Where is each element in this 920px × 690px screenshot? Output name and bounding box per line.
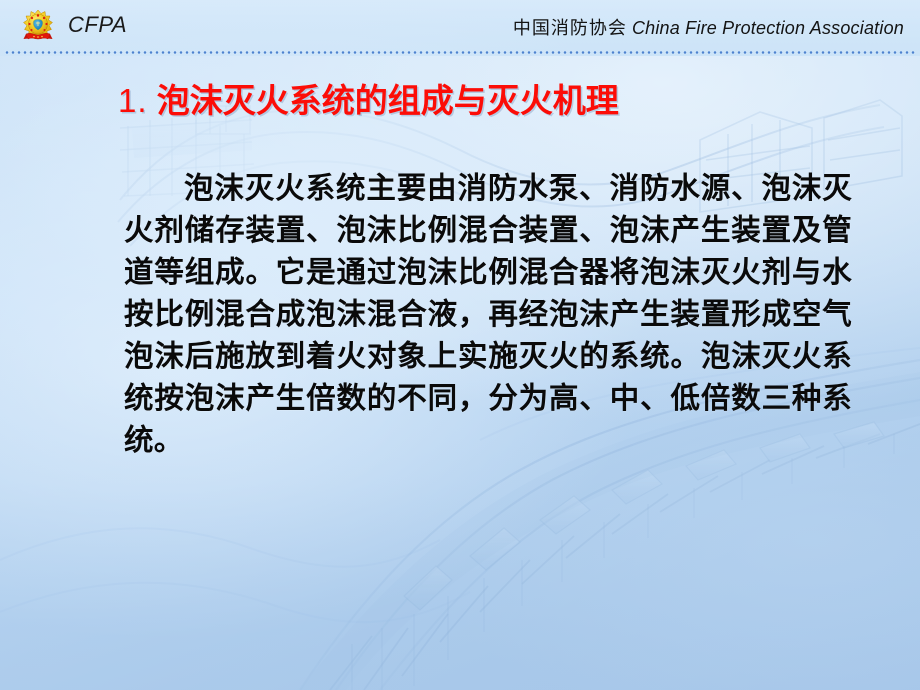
slide-header: CFPA 中国消防协会 China Fire Protection Associ… bbox=[0, 0, 920, 52]
cfpa-emblem-icon bbox=[22, 9, 54, 43]
page-title: 1. 泡沫灭火系统的组成与灭火机理 bbox=[118, 74, 619, 122]
organization-name-cn: 中国消防协会 bbox=[513, 18, 627, 38]
organization-name: 中国消防协会 China Fire Protection Association bbox=[513, 14, 904, 40]
brand-abbreviation: CFPA bbox=[68, 12, 127, 38]
slide-body-paragraph: 泡沫灭火系统主要由消防水泵、消防水源、泡沫灭火剂储存装置、泡沫比例混合装置、泡沫… bbox=[124, 168, 852, 462]
page-title-text: 泡沫灭火系统的组成与灭火机理 bbox=[157, 82, 619, 119]
presentation-slide: CFPA 中国消防协会 China Fire Protection Associ… bbox=[0, 0, 920, 690]
organization-name-en: China Fire Protection Association bbox=[632, 18, 904, 38]
header-dotted-divider bbox=[4, 51, 916, 54]
page-title-number: 1. bbox=[118, 82, 148, 119]
